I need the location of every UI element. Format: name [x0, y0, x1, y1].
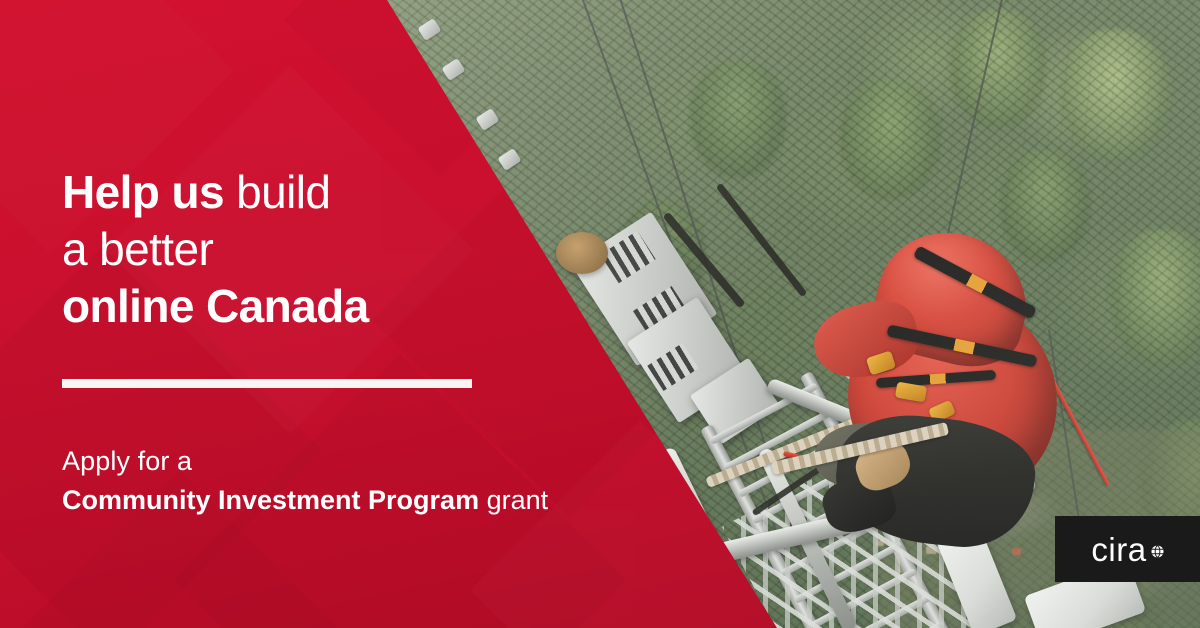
headline-line1-bold: Help us [62, 166, 224, 218]
subheading-line-1: Apply for a [62, 442, 548, 480]
headline-line1-light: build [236, 166, 330, 218]
promo-banner: Help us build a better online Canada App… [0, 0, 1200, 628]
globe-icon [1151, 545, 1164, 563]
headline-line-3: online Canada [62, 278, 369, 335]
headline-line-1: Help us build [62, 164, 369, 221]
ground-debris [1012, 548, 1021, 555]
banner-content: Help us build a better online Canada App… [62, 0, 722, 628]
headline-line-2: a better [62, 221, 369, 278]
subheading: Apply for a Community Investment Program… [62, 442, 548, 520]
subheading-line-2: Community Investment Program grant [62, 480, 548, 520]
headline-line3-bold: online Canada [62, 280, 369, 332]
tower-climber [790, 228, 1090, 538]
headline: Help us build a better online Canada [62, 164, 369, 335]
subheading-program-name: Community Investment Program [62, 485, 479, 515]
cira-logo[interactable]: cira [1055, 516, 1200, 582]
subheading-grant-word: grant [487, 485, 549, 515]
headline-line2-light: a better [62, 223, 213, 275]
cira-wordmark: cira [1091, 533, 1146, 566]
divider-rule [62, 379, 472, 388]
